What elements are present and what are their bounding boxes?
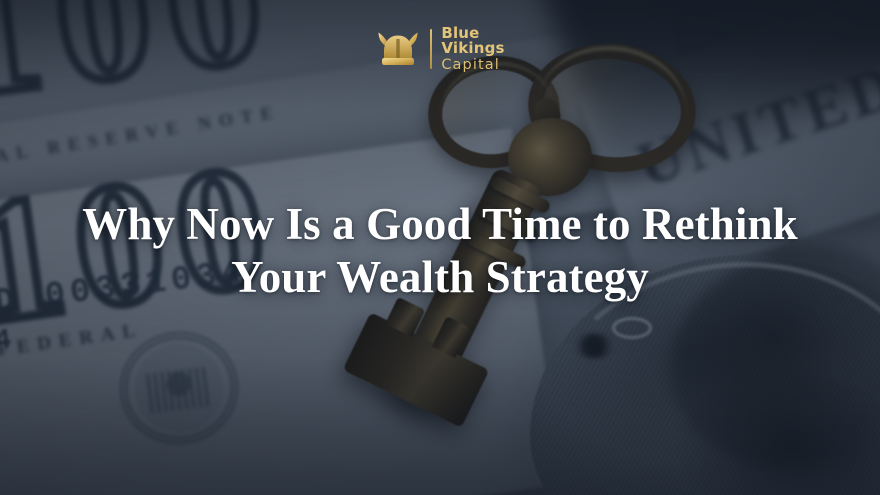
headline-line-2: Your Wealth Strategy	[42, 251, 838, 304]
logo-wordmark: Blue Vikings Capital	[441, 26, 504, 73]
logo-line-vikings: Vikings	[441, 41, 504, 56]
viking-helmet-icon	[375, 27, 421, 71]
logo-divider	[430, 29, 432, 69]
hero-banner: KD 00331034 D4	[0, 0, 880, 495]
headline-line-1: Why Now Is a Good Time to Rethink	[42, 198, 838, 251]
logo-line-capital: Capital	[441, 58, 504, 73]
brand-logo[interactable]: Blue Vikings Capital	[0, 26, 880, 73]
page-title: Why Now Is a Good Time to Rethink Your W…	[0, 198, 880, 303]
